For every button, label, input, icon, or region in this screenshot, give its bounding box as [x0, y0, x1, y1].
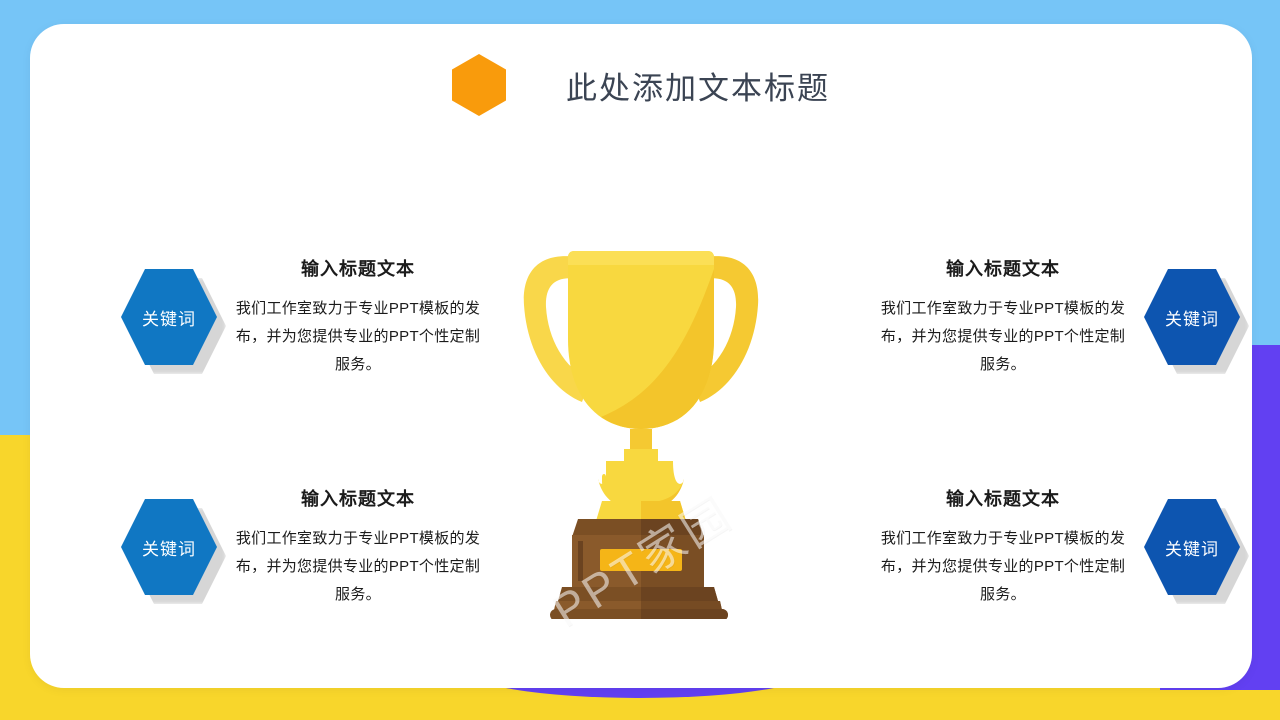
block-body: 我们工作室致力于专业PPT模板的发布，并为您提供专业的PPT个性定制服务。: [874, 525, 1132, 608]
keyword-badge-label: 关键词: [1165, 535, 1219, 560]
content-card: 此处添加文本标题 关键词 输入标题文本 我们工作室致力于专业PPT模板的发布，并…: [30, 24, 1252, 688]
keyword-badge-top-right[interactable]: 关键词: [1144, 269, 1240, 365]
slide-canvas: 此处添加文本标题 关键词 输入标题文本 我们工作室致力于专业PPT模板的发布，并…: [0, 0, 1280, 720]
trophy-icon: PPT家园: [506, 229, 776, 619]
block-top-left: 关键词 输入标题文本 我们工作室致力于专业PPT模板的发布，并为您提供专业的PP…: [30, 255, 505, 378]
text-block-bottom-right: 输入标题文本 我们工作室致力于专业PPT模板的发布，并为您提供专业的PPT个性定…: [874, 485, 1132, 608]
keyword-badge-bottom-right[interactable]: 关键词: [1144, 499, 1240, 595]
orange-hexagon-icon: [452, 54, 506, 116]
text-block-bottom-left: 输入标题文本 我们工作室致力于专业PPT模板的发布，并为您提供专业的PPT个性定…: [229, 485, 487, 608]
block-heading: 输入标题文本: [229, 255, 487, 281]
keyword-badge-label: 关键词: [142, 535, 196, 560]
block-body: 我们工作室致力于专业PPT模板的发布，并为您提供专业的PPT个性定制服务。: [874, 295, 1132, 378]
text-block-top-right: 输入标题文本 我们工作室致力于专业PPT模板的发布，并为您提供专业的PPT个性定…: [874, 255, 1132, 378]
block-heading: 输入标题文本: [874, 255, 1132, 281]
block-heading: 输入标题文本: [229, 485, 487, 511]
page-title: 此处添加文本标题: [566, 63, 830, 108]
keyword-badge-label: 关键词: [142, 305, 196, 330]
keyword-badge-bottom-left[interactable]: 关键词: [121, 499, 217, 595]
block-bottom-right: 关键词 输入标题文本 我们工作室致力于专业PPT模板的发布，并为您提供专业的PP…: [777, 485, 1252, 608]
block-top-right: 关键词 输入标题文本 我们工作室致力于专业PPT模板的发布，并为您提供专业的PP…: [777, 255, 1252, 378]
block-bottom-left: 关键词 输入标题文本 我们工作室致力于专业PPT模板的发布，并为您提供专业的PP…: [30, 485, 505, 608]
block-body: 我们工作室致力于专业PPT模板的发布，并为您提供专业的PPT个性定制服务。: [229, 525, 487, 608]
block-body: 我们工作室致力于专业PPT模板的发布，并为您提供专业的PPT个性定制服务。: [229, 295, 487, 378]
keyword-badge-label: 关键词: [1165, 305, 1219, 330]
keyword-badge-top-left[interactable]: 关键词: [121, 269, 217, 365]
slide-header: 此处添加文本标题: [30, 54, 1252, 116]
text-block-top-left: 输入标题文本 我们工作室致力于专业PPT模板的发布，并为您提供专业的PPT个性定…: [229, 255, 487, 378]
block-heading: 输入标题文本: [874, 485, 1132, 511]
